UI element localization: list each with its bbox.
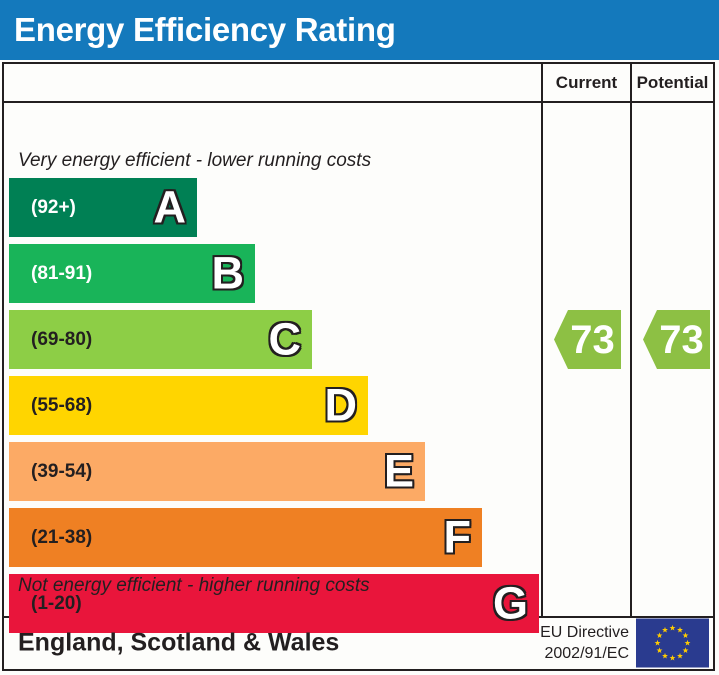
column-divider-current — [541, 103, 543, 618]
bands-chart: Very energy efficient - lower running co… — [4, 103, 541, 616]
band-range-b: (81-91) — [31, 263, 92, 285]
table-header-row: Current Potential — [4, 64, 713, 103]
band-letter-b: B — [212, 250, 245, 295]
directive-line-2: 2002/91/EC — [540, 643, 629, 664]
band-e: (39-54)E — [9, 442, 425, 501]
footer-region: England, Scotland & Wales — [18, 628, 339, 657]
band-range-a: (92+) — [31, 197, 76, 219]
band-letter-e: E — [384, 448, 414, 493]
footer: England, Scotland & Wales EU Directive 2… — [4, 616, 713, 669]
column-header-potential: Potential — [630, 64, 713, 101]
band-c: (69-80)C — [9, 310, 312, 369]
band-letter-d: D — [325, 382, 358, 427]
column-divider-potential — [630, 103, 632, 618]
band-range-d: (55-68) — [31, 395, 92, 417]
potential-rating-value: 73 — [649, 320, 704, 360]
page-title: Energy Efficiency Rating — [14, 6, 396, 54]
footer-directive: EU Directive 2002/91/EC — [540, 622, 629, 664]
epc-certificate: Energy Efficiency Rating Current Potenti… — [0, 0, 719, 675]
directive-line-1: EU Directive — [540, 622, 629, 643]
band-f: (21-38)F — [9, 508, 482, 567]
band-letter-c: C — [269, 316, 302, 361]
band-b: (81-91)B — [9, 244, 255, 303]
current-rating-arrow: 73 — [554, 310, 621, 369]
current-rating-value: 73 — [560, 320, 615, 360]
band-a: (92+)A — [9, 178, 197, 237]
band-letter-f: F — [444, 514, 472, 559]
column-header-current: Current — [541, 64, 630, 101]
band-d: (55-68)D — [9, 376, 368, 435]
potential-rating-arrow: 73 — [643, 310, 710, 369]
title-bar: Energy Efficiency Rating — [0, 0, 719, 60]
eu-flag-icon — [636, 618, 709, 667]
band-range-e: (39-54) — [31, 461, 92, 483]
caption-top: Very energy efficient - lower running co… — [18, 150, 371, 172]
caption-bottom: Not energy efficient - higher running co… — [18, 575, 370, 597]
band-range-f: (21-38) — [31, 527, 92, 549]
band-letter-a: A — [154, 184, 187, 229]
rating-table: Current Potential Very energy efficient … — [2, 62, 715, 671]
band-range-c: (69-80) — [31, 329, 92, 351]
